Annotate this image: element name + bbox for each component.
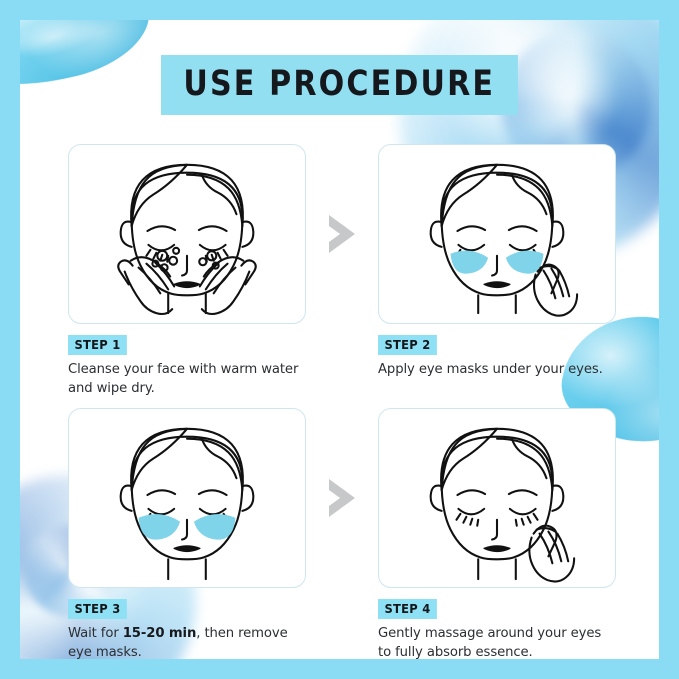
step-3-badge: STEP 3 xyxy=(68,599,127,619)
chevron-right-icon xyxy=(322,475,362,521)
step-2-badge: STEP 2 xyxy=(378,335,437,355)
steps-row-1: STEP 1 Cleanse your face with warm water… xyxy=(68,144,616,398)
step-4-caption: STEP 4 Gently massage around your eyes t… xyxy=(378,588,616,659)
step-3-description: Wait for 15-20 min, then remove eye mask… xyxy=(68,625,306,659)
page-title-container: USE PROCEDURE xyxy=(20,55,659,115)
step-3-text-part-1: Wait for xyxy=(68,626,123,641)
face-washing-with-foam-illustration xyxy=(69,145,305,323)
steps-row-2: STEP 3 Wait for 15-20 min, then remove e… xyxy=(68,408,616,659)
step-2-text-part-1: Apply eye masks under your eyes. xyxy=(378,362,603,377)
step-4: STEP 4 Gently massage around your eyes t… xyxy=(378,408,616,659)
step-2-illustration-card xyxy=(378,144,616,324)
use-procedure-poster: USE PROCEDURE xyxy=(0,0,679,679)
face-massaging-cheek-illustration xyxy=(379,409,615,587)
step-4-illustration-card xyxy=(378,408,616,588)
step-1-caption: STEP 1 Cleanse your face with warm water… xyxy=(68,324,306,398)
step-2: STEP 2 Apply eye masks under your eyes. xyxy=(378,144,616,380)
step-1-badge: STEP 1 xyxy=(68,335,127,355)
step-4-text-part-1: Gently massage around your eyes to fully… xyxy=(378,626,601,659)
step-3: STEP 3 Wait for 15-20 min, then remove e… xyxy=(68,408,306,659)
step-3-text-part-2: 15-20 min xyxy=(123,626,197,641)
steps-grid: STEP 1 Cleanse your face with warm water… xyxy=(68,144,616,659)
step-1-description: Cleanse your face with warm water and wi… xyxy=(68,361,306,398)
step-2-description: Apply eye masks under your eyes. xyxy=(378,361,616,380)
step-2-caption: STEP 2 Apply eye masks under your eyes. xyxy=(378,324,616,380)
chevron-right-icon xyxy=(322,211,362,257)
face-applying-eye-masks-illustration xyxy=(379,145,615,323)
step-4-badge: STEP 4 xyxy=(378,599,437,619)
step-1-text-part-1: Cleanse your face with warm water and wi… xyxy=(68,362,298,396)
face-resting-with-eye-masks-illustration xyxy=(69,409,305,587)
step-1-illustration-card xyxy=(68,144,306,324)
page-title: USE PROCEDURE xyxy=(161,55,517,115)
separator-1 xyxy=(306,144,378,324)
step-3-illustration-card xyxy=(68,408,306,588)
separator-2 xyxy=(306,408,378,588)
step-4-description: Gently massage around your eyes to fully… xyxy=(378,625,616,659)
step-1: STEP 1 Cleanse your face with warm water… xyxy=(68,144,306,398)
step-3-caption: STEP 3 Wait for 15-20 min, then remove e… xyxy=(68,588,306,659)
poster-canvas: USE PROCEDURE xyxy=(20,20,659,659)
